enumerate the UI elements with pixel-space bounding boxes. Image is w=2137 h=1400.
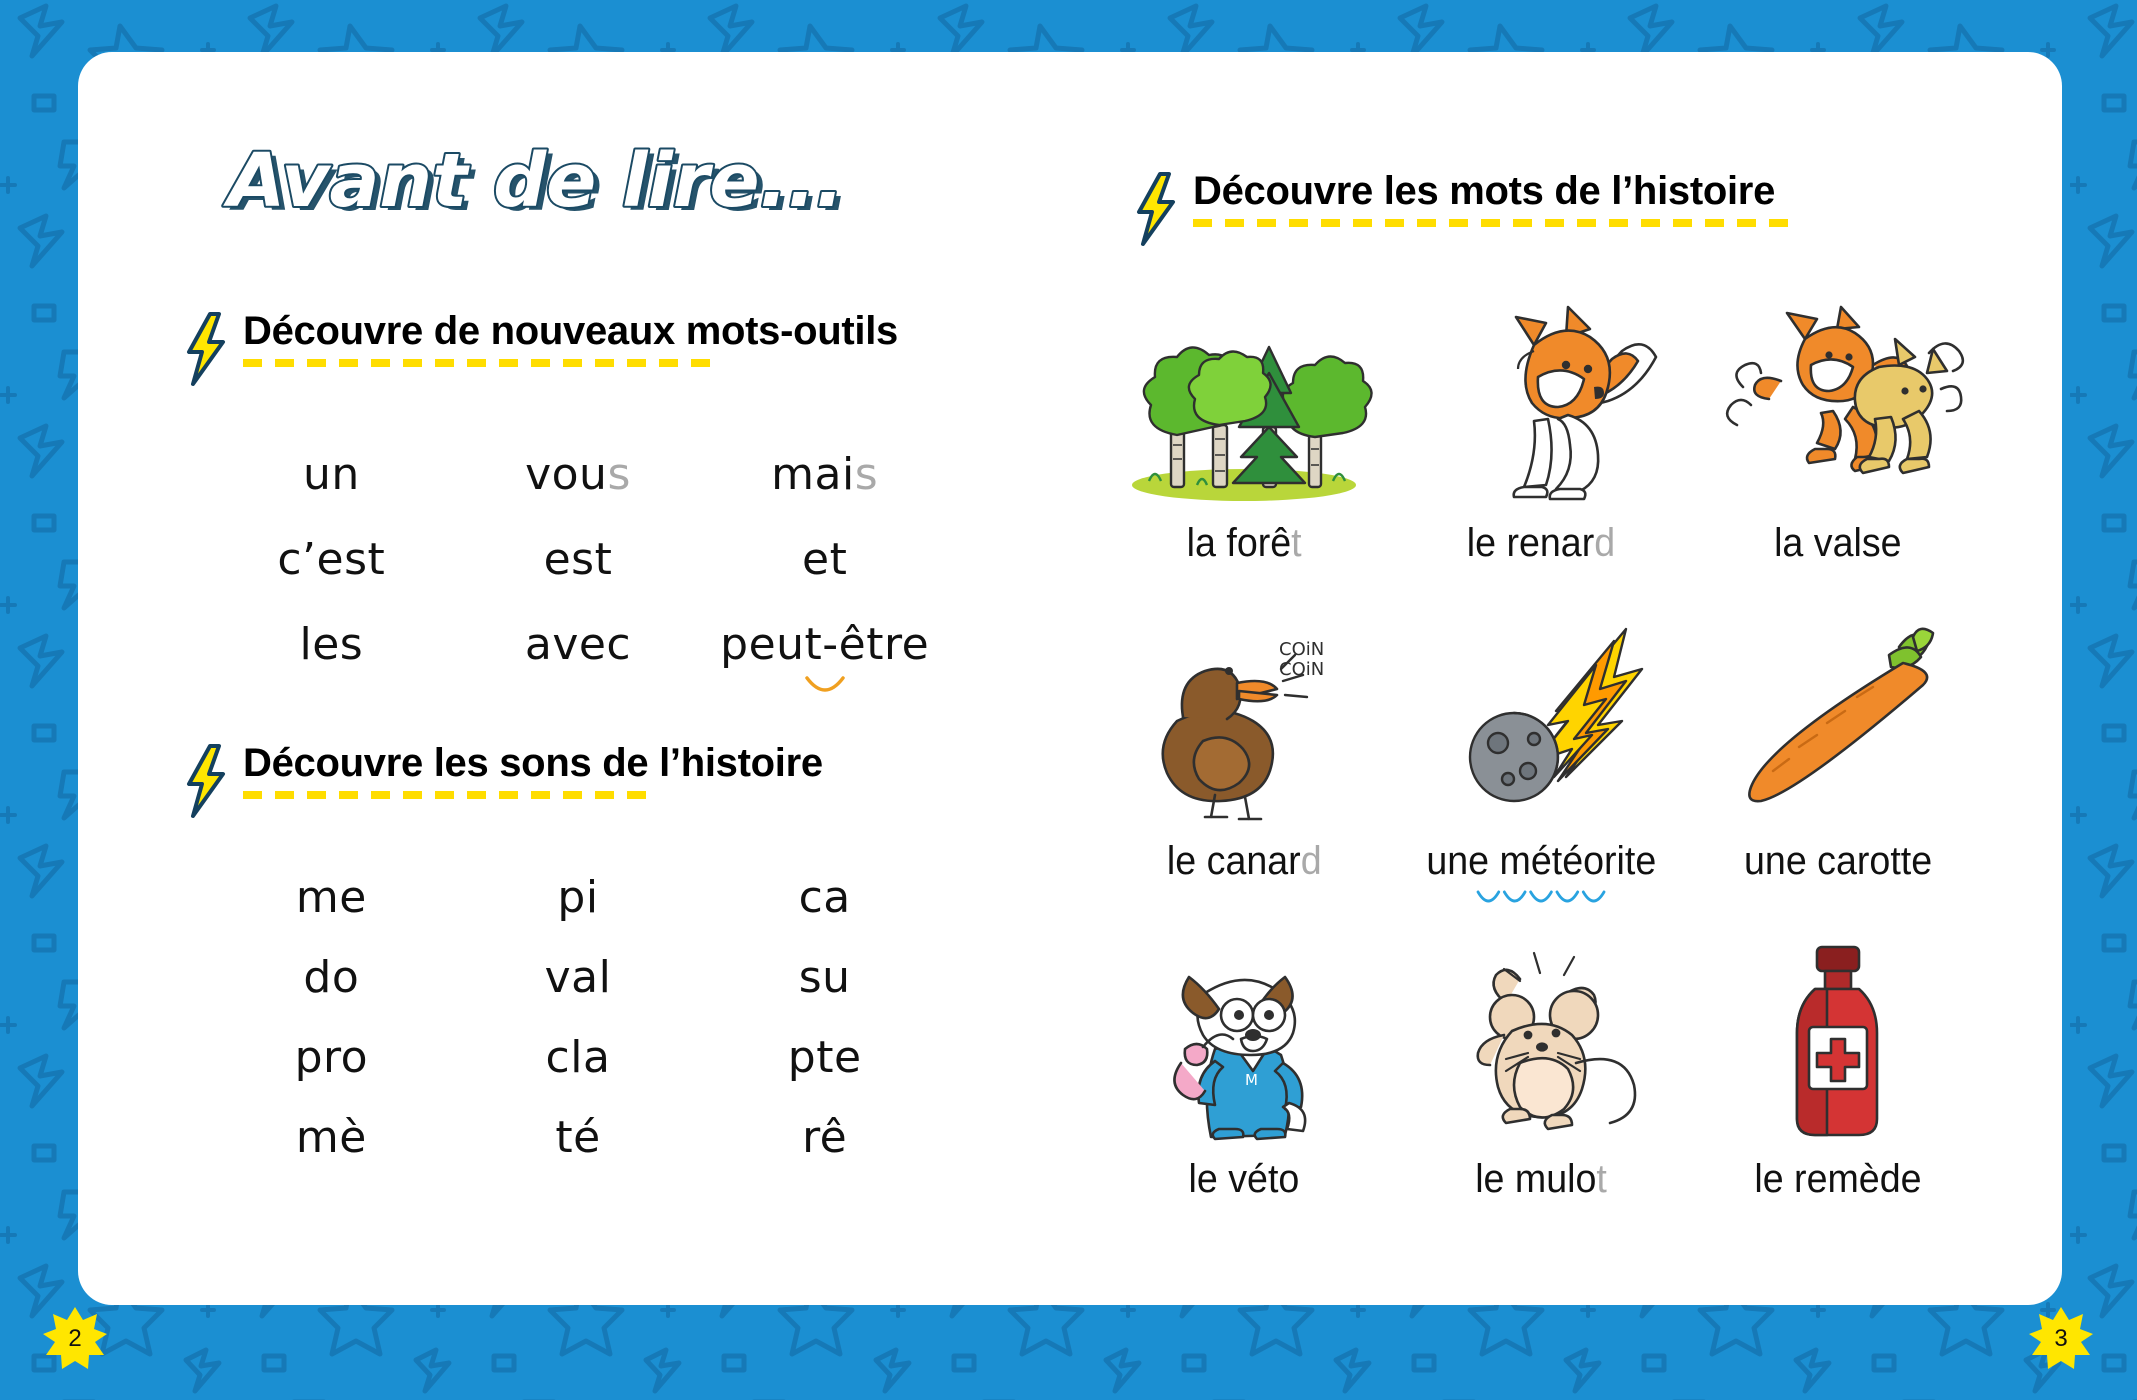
picture-label-text: la valse	[1774, 521, 1901, 565]
word-cell: vous	[455, 432, 702, 517]
section-header-mots-histoire: Découvre les mots de l’histoire	[1133, 170, 1791, 246]
meteorite-icon	[1393, 615, 1690, 825]
silent-letter: s	[855, 449, 878, 500]
word-text: ca	[799, 872, 851, 923]
svg-text:COiN: COiN	[1279, 659, 1324, 680]
word-cell: do	[208, 937, 455, 1017]
picture-word-item: une carotte	[1689, 570, 1986, 888]
word-cell: pte	[701, 1017, 948, 1097]
picture-label-text: le remède	[1754, 1157, 1921, 1201]
picture-label: une carotte	[1744, 839, 1932, 884]
page-number-value: 2	[68, 1325, 81, 1353]
word-text: mai	[771, 449, 855, 500]
word-text: c’est	[277, 534, 385, 585]
section-heading: Découvre les mots de l’histoire	[1193, 169, 1775, 213]
page-title: Avant de lire... Avant de lire... Avant …	[228, 140, 848, 230]
right-page: Découvre les mots de l’histoire	[1078, 52, 2062, 1305]
word-text: do	[303, 952, 359, 1003]
word-cell: les	[208, 602, 455, 687]
lightning-bolt-icon	[183, 312, 229, 386]
fox-icon	[1393, 297, 1690, 507]
word-cell: pro	[208, 1017, 455, 1097]
lightning-bolt-icon	[183, 744, 229, 818]
picture-label-text: la forê	[1187, 521, 1292, 565]
mouse-icon	[1393, 933, 1690, 1143]
silent-letter: t	[1291, 521, 1301, 565]
section-heading: Découvre les sons de l’histoire	[243, 741, 823, 785]
page-number-value: 3	[2054, 1325, 2067, 1353]
word-text: su	[799, 952, 851, 1003]
picture-label: le véto	[1189, 1157, 1300, 1202]
carrot-icon	[1689, 615, 1986, 825]
word-cell: peut-être	[701, 602, 948, 687]
picture-word-item: la valse	[1689, 252, 1986, 570]
liaison-arc-icon	[804, 658, 846, 680]
word-grid-sons: mepicadovalsuproclaptemètérê	[208, 857, 948, 1177]
word-cell: avec	[455, 602, 702, 687]
word-text: val	[545, 952, 612, 1003]
word-cell: est	[455, 517, 702, 602]
word-text: les	[299, 619, 363, 670]
word-text: et	[802, 534, 847, 585]
word-cell: rê	[701, 1097, 948, 1177]
duck-icon: COiN COiN	[1096, 615, 1393, 825]
svg-text:M: M	[1245, 1071, 1258, 1089]
picture-label: le mulot	[1475, 1157, 1607, 1202]
page-number-right: 3	[2028, 1306, 2094, 1372]
silent-letter: d	[1594, 521, 1615, 565]
word-text: un	[303, 449, 360, 500]
word-cell: val	[455, 937, 702, 1017]
picture-word-item: la forêt	[1096, 252, 1393, 570]
word-cell: cla	[455, 1017, 702, 1097]
silent-letter: d	[1301, 839, 1322, 883]
word-cell: mè	[208, 1097, 455, 1177]
waltz-icon	[1689, 297, 1986, 507]
vet-dog-icon: M	[1096, 933, 1393, 1143]
word-cell: me	[208, 857, 455, 937]
syllable-arcs-icon	[1475, 877, 1607, 897]
heading-dashed-underline	[243, 359, 713, 367]
word-text: avec	[525, 619, 631, 670]
word-cell: un	[208, 432, 455, 517]
picture-label: le renard	[1467, 521, 1615, 566]
word-cell: ca	[701, 857, 948, 937]
word-text: pte	[788, 1032, 862, 1083]
word-text: vou	[525, 449, 607, 500]
forest-icon	[1096, 297, 1393, 507]
silent-letter: t	[1596, 1157, 1606, 1201]
word-cell: té	[455, 1097, 702, 1177]
word-text: cla	[546, 1032, 611, 1083]
left-page: Avant de lire... Avant de lire... Avant …	[78, 52, 1078, 1305]
section-heading: Découvre de nouveaux mots-outils	[243, 309, 898, 353]
svg-text:COiN: COiN	[1279, 639, 1324, 660]
picture-word-item: une météorite	[1393, 570, 1690, 888]
picture-word-item: le mulot	[1393, 888, 1690, 1206]
lightning-bolt-icon	[1133, 172, 1179, 246]
word-cell: mais	[701, 432, 948, 517]
word-text: mè	[296, 1112, 367, 1163]
picture-label: la valse	[1774, 521, 1901, 566]
section-header-sons: Découvre les sons de l’histoire	[183, 742, 823, 818]
silent-letter: s	[607, 449, 630, 500]
page-card: Avant de lire... Avant de lire... Avant …	[78, 52, 2062, 1305]
picture-label: une météorite	[1426, 839, 1656, 884]
page-number-left: 2	[42, 1306, 108, 1372]
picture-word-item: M le véto	[1096, 888, 1393, 1206]
picture-label-text: le renar	[1467, 521, 1594, 565]
word-cell: et	[701, 517, 948, 602]
picture-word-grid: la forêt le renard	[1096, 252, 1986, 1206]
medicine-icon	[1689, 933, 1986, 1143]
word-text: rê	[802, 1112, 847, 1163]
word-text: té	[555, 1112, 600, 1163]
heading-dashed-underline	[243, 791, 655, 799]
word-cell: su	[701, 937, 948, 1017]
word-cell: pi	[455, 857, 702, 937]
picture-label-text: une carotte	[1744, 839, 1932, 883]
svg-text:Avant de lire...: Avant de lire...	[223, 138, 844, 224]
picture-label: la forêt	[1187, 521, 1302, 566]
word-text: est	[544, 534, 613, 585]
word-text: pi	[557, 872, 598, 923]
picture-word-item: le remède	[1689, 888, 1986, 1206]
picture-word-item: le renard	[1393, 252, 1690, 570]
section-header-mots-outils: Découvre de nouveaux mots-outils	[183, 310, 898, 386]
picture-label: le remède	[1754, 1157, 1921, 1202]
heading-dashed-underline	[1193, 219, 1791, 227]
picture-label-text: le canar	[1167, 839, 1301, 883]
word-grid-mots-outils: unvousmaisc’estestetlesavecpeut-être	[208, 432, 948, 687]
picture-word-item: COiN COiN le canard	[1096, 570, 1393, 888]
word-text: pro	[295, 1032, 368, 1083]
picture-label-text: le véto	[1189, 1157, 1300, 1201]
word-text: me	[296, 872, 367, 923]
word-cell: c’est	[208, 517, 455, 602]
picture-label: le canard	[1167, 839, 1322, 884]
picture-label-text: le mulo	[1475, 1157, 1596, 1201]
